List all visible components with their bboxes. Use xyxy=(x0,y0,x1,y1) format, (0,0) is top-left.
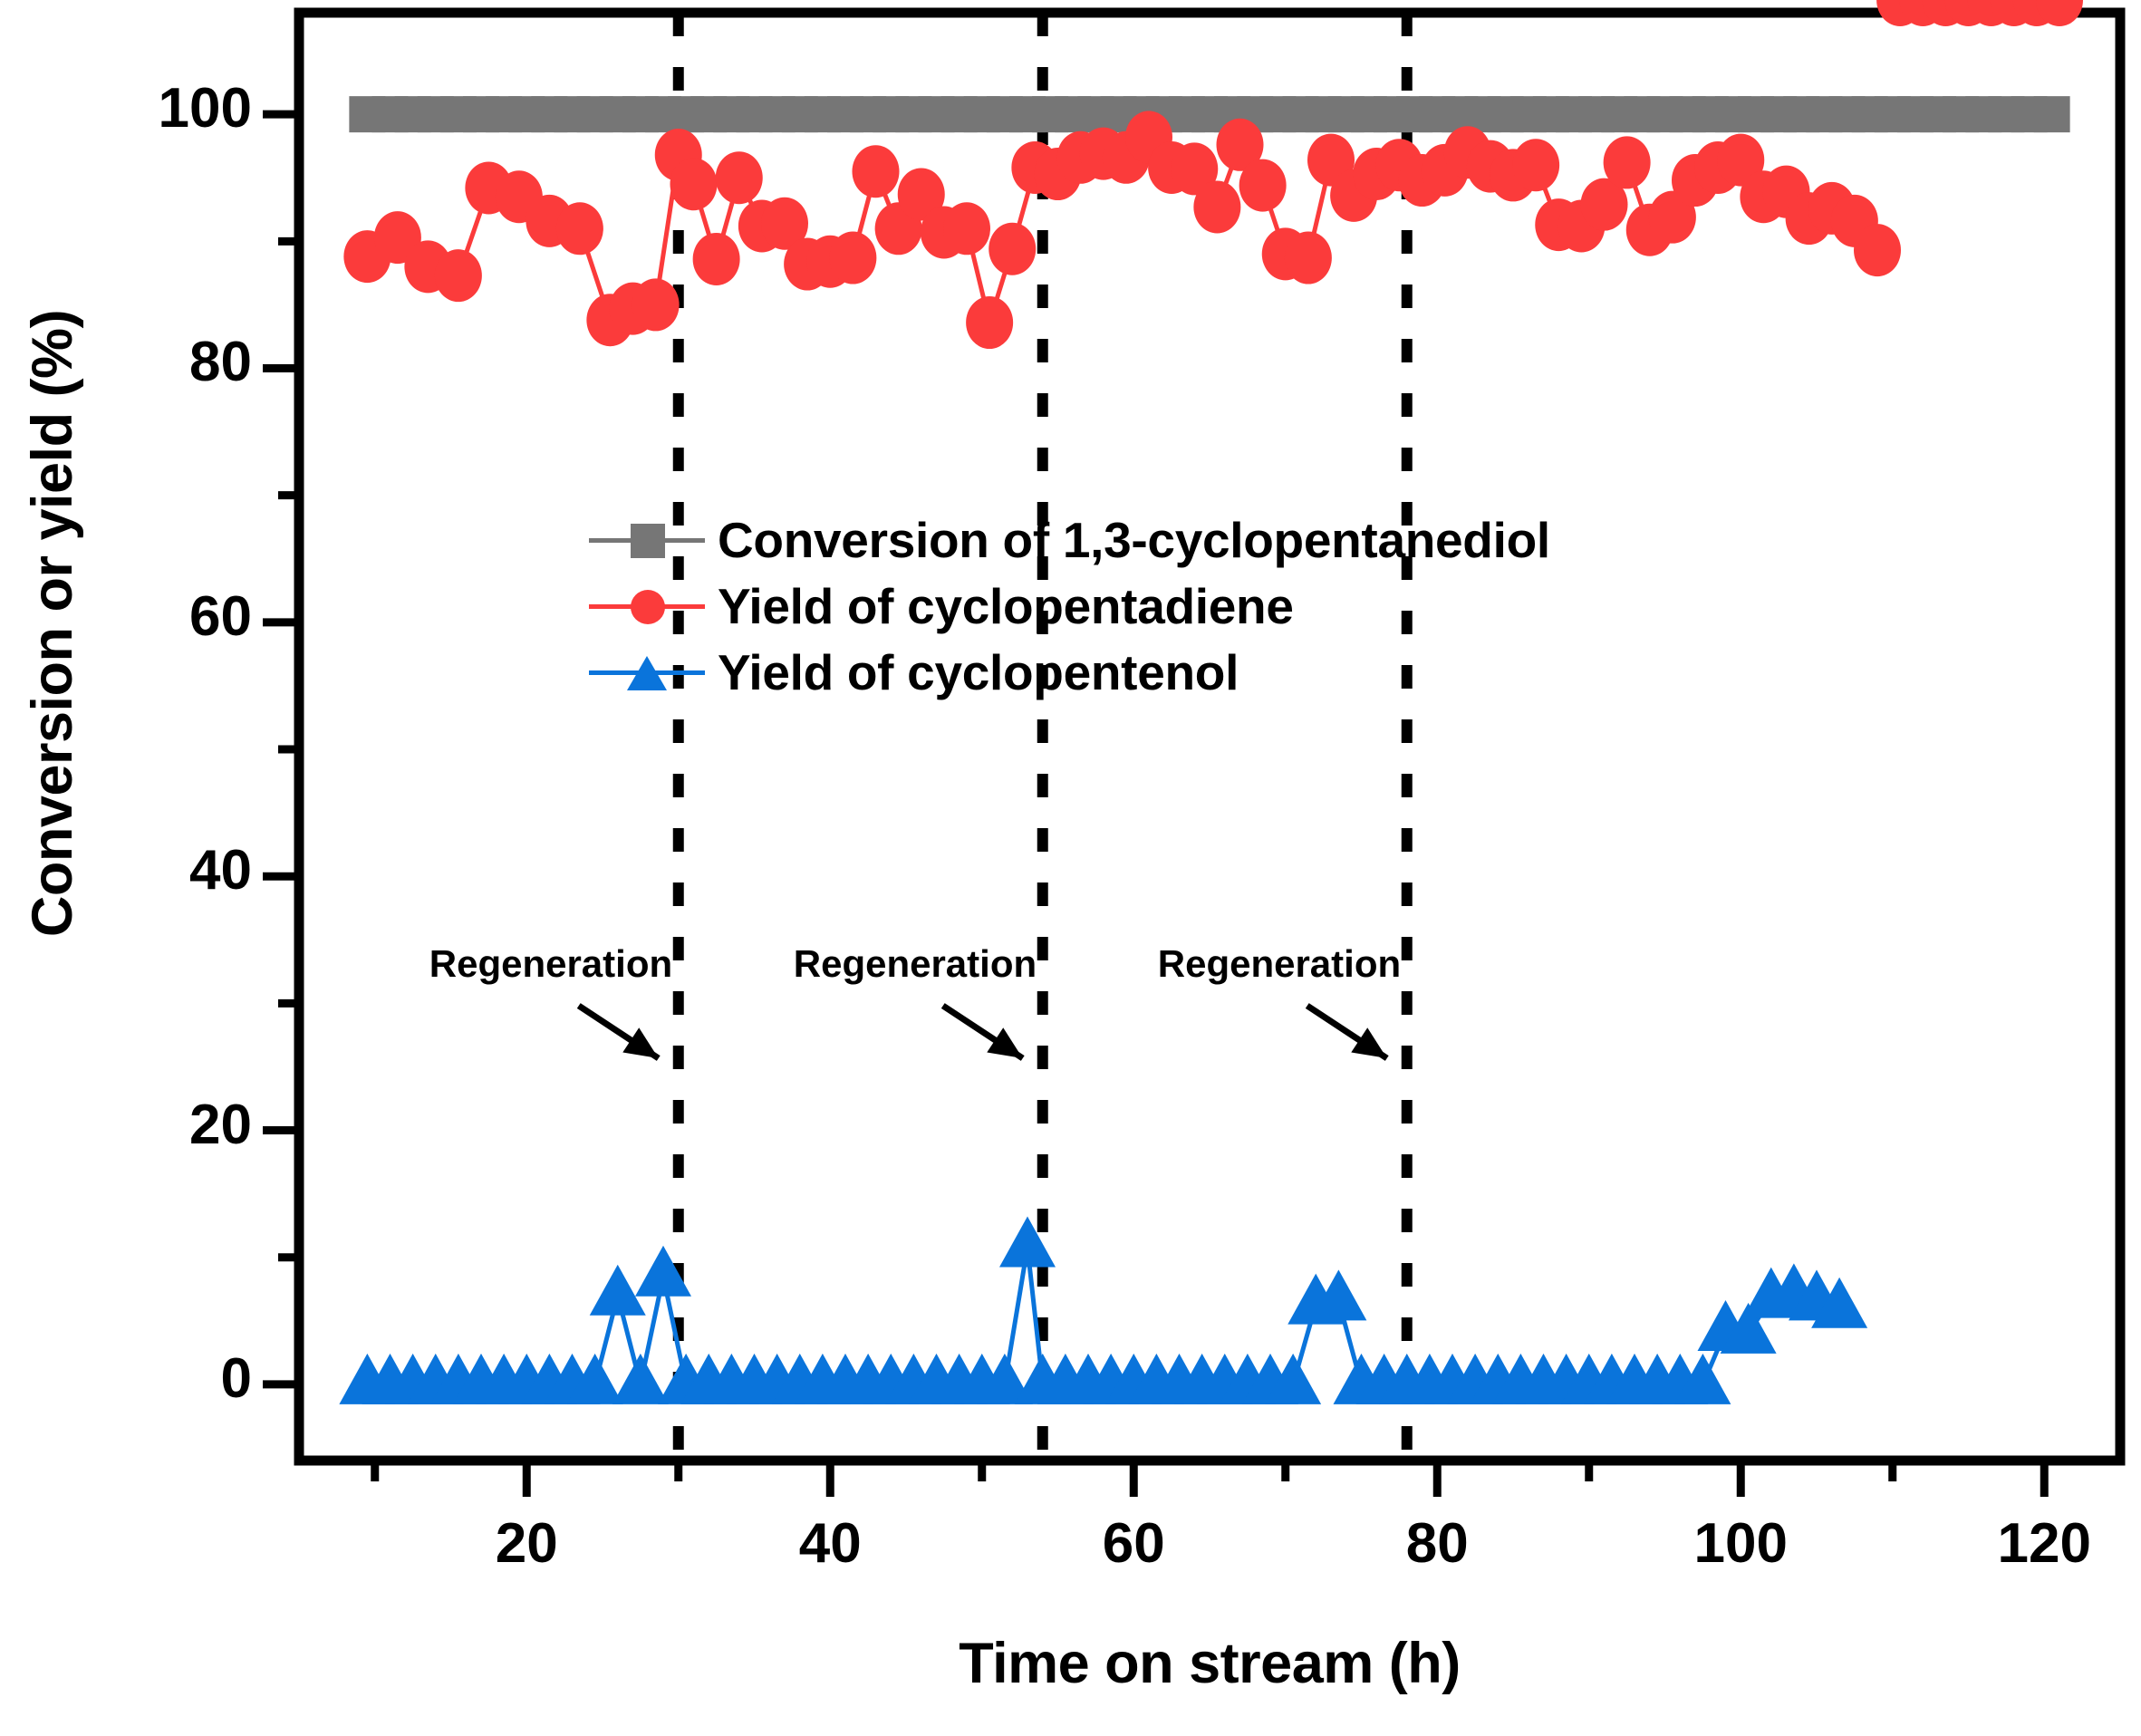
circle-marker xyxy=(670,158,718,210)
y-tick-label: 80 xyxy=(189,330,252,394)
circle-marker xyxy=(435,249,482,302)
circle-marker-icon xyxy=(631,590,665,624)
legend-key-cyclopentenol xyxy=(589,644,705,700)
x-tick-label: 120 xyxy=(1908,1511,2141,1576)
x-axis-title: Time on stream (h) xyxy=(299,1631,2120,1696)
annotation-arrow-head xyxy=(622,1027,658,1058)
circle-marker xyxy=(1285,232,1332,285)
legend-item-cyclopentadiene[interactable]: Yield of cyclopentadiene xyxy=(589,578,1550,634)
circle-marker xyxy=(829,232,876,285)
legend-item-conversion[interactable]: Conversion of 1,3-cyclopentanediol xyxy=(589,512,1550,568)
series-line-triangle xyxy=(367,1248,1839,1384)
legend-key-conversion xyxy=(589,512,705,568)
square-marker xyxy=(2034,96,2070,132)
circle-marker xyxy=(943,202,990,255)
annotation-arrow-head xyxy=(987,1027,1022,1058)
x-tick-label: 80 xyxy=(1301,1511,1573,1576)
legend-item-cyclopentenol[interactable]: Yield of cyclopentenol xyxy=(589,644,1550,700)
y-axis-title: Conversion or yield (%) xyxy=(20,216,85,1031)
y-tick-label: 60 xyxy=(189,584,252,649)
circle-marker xyxy=(632,278,680,331)
circle-marker xyxy=(1239,159,1287,212)
circle-marker xyxy=(1604,136,1651,188)
circle-marker xyxy=(989,223,1036,275)
circle-marker xyxy=(1512,139,1559,191)
square-marker-icon xyxy=(631,524,665,558)
plot-canvas xyxy=(0,0,2141,1736)
circle-marker xyxy=(1854,224,1901,276)
y-tick-label: 0 xyxy=(221,1346,252,1411)
circle-marker xyxy=(853,145,900,198)
regeneration-label: Regeneration xyxy=(429,942,672,986)
circle-marker xyxy=(556,202,603,255)
circle-marker xyxy=(716,151,763,204)
x-tick-label: 20 xyxy=(391,1511,662,1576)
regeneration-label: Regeneration xyxy=(794,942,1037,986)
y-tick-label: 100 xyxy=(159,76,252,140)
legend-label-cyclopentadiene: Yield of cyclopentadiene xyxy=(718,577,1294,635)
chart-root: Conversion or yield (%) Time on stream (… xyxy=(0,0,2141,1736)
triangle-marker xyxy=(612,1354,669,1404)
x-tick-label: 40 xyxy=(694,1511,966,1576)
legend-label-cyclopentenol: Yield of cyclopentenol xyxy=(718,643,1239,701)
x-tick-label: 100 xyxy=(1605,1511,1876,1576)
y-tick-label: 20 xyxy=(189,1093,252,1157)
legend-label-conversion: Conversion of 1,3-cyclopentanediol xyxy=(718,511,1550,569)
circle-marker xyxy=(1193,180,1240,233)
triangle-marker-icon xyxy=(627,656,667,690)
regeneration-label: Regeneration xyxy=(1158,942,1401,986)
annotation-arrow-head xyxy=(1351,1027,1386,1058)
legend: Conversion of 1,3-cyclopentanediol Yield… xyxy=(589,512,1550,710)
circle-marker xyxy=(693,233,740,285)
legend-key-cyclopentadiene xyxy=(589,578,705,634)
x-tick-label: 60 xyxy=(998,1511,1269,1576)
triangle-marker xyxy=(590,1265,646,1316)
y-tick-label: 40 xyxy=(189,838,252,902)
circle-marker xyxy=(966,296,1013,349)
